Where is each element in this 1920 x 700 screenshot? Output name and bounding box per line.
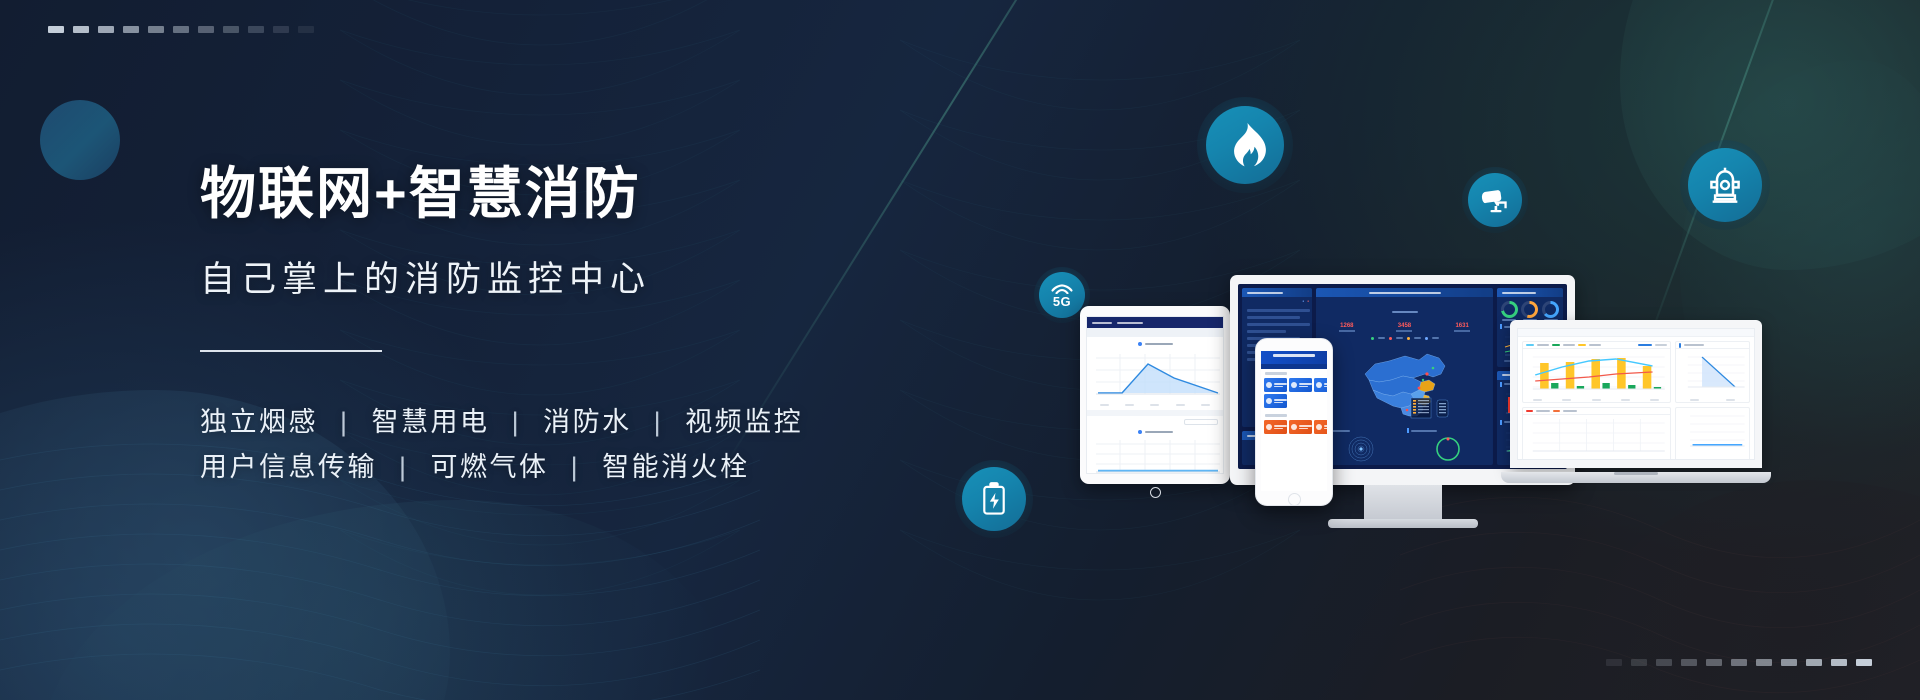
badge-camera[interactable] xyxy=(1462,167,1528,233)
panel-header xyxy=(1242,288,1312,297)
kpi-item: 3458 xyxy=(1396,323,1412,333)
laptop-baseline-chart xyxy=(1676,408,1749,456)
monitor-stand-base xyxy=(1328,519,1478,528)
phone-tabs[interactable] xyxy=(1261,364,1327,369)
phone-card[interactable] xyxy=(1264,378,1287,392)
tablet-screen xyxy=(1086,316,1224,474)
map-legend xyxy=(1316,335,1493,342)
blob-top-right-1 xyxy=(1620,0,1920,270)
feature-item: 智能消火栓 xyxy=(602,452,750,482)
hero-subheadline: 自己掌上的消防监控中心 xyxy=(200,251,900,302)
gauge-integrity-rate xyxy=(1521,301,1538,318)
phone-card[interactable] xyxy=(1314,378,1327,392)
kpi-item: 1631 xyxy=(1454,323,1470,333)
hero-headline: 物联网+智慧消防 xyxy=(200,160,900,227)
phone-card[interactable] xyxy=(1264,420,1287,434)
decor-dashes-bottom-right xyxy=(1606,659,1872,666)
laptop-bar-chart xyxy=(1523,349,1670,397)
feature-separator: | xyxy=(399,452,409,482)
feature-separator: | xyxy=(512,407,522,437)
phone-body xyxy=(1255,338,1333,506)
panel-china-map: 1268 3458 1631 xyxy=(1316,288,1493,465)
tablet-home-button[interactable] xyxy=(1150,487,1161,498)
tablet-topbar xyxy=(1087,317,1223,328)
blob-bottom-left-2 xyxy=(40,500,740,700)
laptop-base xyxy=(1501,472,1771,483)
tablet-flat-chart xyxy=(1092,436,1224,474)
badge-hydrant[interactable] xyxy=(1680,140,1770,230)
phone-card-grid-orange xyxy=(1261,417,1327,437)
laptop-bar-card xyxy=(1522,341,1671,403)
kpi-row: 1268 3458 1631 xyxy=(1316,318,1493,335)
diagonal-line-1 xyxy=(0,0,112,647)
feature-separator: | xyxy=(571,452,581,482)
phone-card[interactable] xyxy=(1289,420,1312,434)
gauge-row xyxy=(1497,297,1563,319)
feature-separator: | xyxy=(340,407,350,437)
feature-item: 用户信息传输 xyxy=(200,452,377,482)
5g-icon: 5G xyxy=(1050,283,1074,308)
phone-home-button[interactable] xyxy=(1288,493,1301,506)
feature-separator: | xyxy=(654,407,664,437)
phone-topbar xyxy=(1261,351,1327,364)
flame-icon xyxy=(1224,122,1266,168)
phone-card[interactable] xyxy=(1289,378,1312,392)
laptop-card-header xyxy=(1676,342,1749,349)
feature-item: 消防水 xyxy=(543,407,632,437)
feature-item: 智慧用电 xyxy=(372,407,490,437)
tablet-body xyxy=(1080,306,1230,484)
monitor-stand-neck xyxy=(1364,485,1442,519)
tablet-chart-card-2 xyxy=(1087,428,1223,474)
device-mockups: ● ● xyxy=(1120,280,1920,580)
phone-card[interactable] xyxy=(1314,420,1327,434)
china-map xyxy=(1316,342,1493,428)
phone-card-grid-blue xyxy=(1261,375,1327,411)
tablet-area-chart xyxy=(1092,348,1224,402)
laptop-lid xyxy=(1510,320,1762,468)
panel-header-title xyxy=(1316,288,1493,297)
tablet-device xyxy=(1080,306,1230,498)
laptop-screen xyxy=(1517,328,1755,460)
badge-flame[interactable] xyxy=(1197,97,1293,193)
hydrant-icon xyxy=(1707,164,1743,206)
tablet-chart-ticks xyxy=(1092,402,1218,406)
panel-header xyxy=(1497,288,1563,297)
gauge-handling-rate xyxy=(1542,301,1559,318)
hero-banner: 物联网+智慧消防 自己掌上的消防监控中心 独立烟感 | 智慧用电 | 消防水 |… xyxy=(0,0,1920,700)
battery-icon xyxy=(981,482,1007,516)
decor-dashes-top-left xyxy=(48,26,314,33)
laptop-decline-chart xyxy=(1676,349,1749,395)
hero-divider xyxy=(200,350,382,352)
phone-card[interactable] xyxy=(1264,394,1287,408)
ring-widget xyxy=(1407,428,1490,464)
hero-text-block: 物联网+智慧消防 自己掌上的消防监控中心 独立烟感 | 智慧用电 | 消防水 |… xyxy=(200,160,900,489)
laptop-card-header xyxy=(1523,342,1670,349)
phone-screen xyxy=(1261,351,1327,491)
gauge-online-rate xyxy=(1501,301,1518,318)
laptop-bottom-card xyxy=(1675,407,1750,460)
feature-item: 视频监控 xyxy=(685,407,803,437)
smartphone-device xyxy=(1255,338,1333,506)
laptop-device xyxy=(1510,320,1780,483)
feature-line-1: 独立烟感 | 智慧用电 | 消防水 | 视频监控 xyxy=(200,400,900,445)
5g-label: 5G xyxy=(1053,295,1071,308)
laptop-area-card xyxy=(1675,341,1750,403)
laptop-flat-card xyxy=(1522,407,1671,460)
laptop-card-header xyxy=(1523,408,1670,415)
feature-list: 独立烟感 | 智慧用电 | 消防水 | 视频监控 用户信息传输 | 可燃气体 |… xyxy=(200,400,900,489)
feature-line-2: 用户信息传输 | 可燃气体 | 智能消火栓 xyxy=(200,445,900,490)
bottom-legend xyxy=(1316,464,1493,465)
laptop-empty-chart xyxy=(1523,415,1670,459)
camera-icon xyxy=(1479,187,1511,213)
feature-item: 独立烟感 xyxy=(200,407,318,437)
feature-item: 可燃气体 xyxy=(431,452,549,482)
kpi-item: 1268 xyxy=(1339,323,1355,333)
tablet-chart-card-1 xyxy=(1087,337,1223,406)
decorative-circle xyxy=(40,100,120,180)
badge-battery[interactable] xyxy=(955,460,1033,538)
